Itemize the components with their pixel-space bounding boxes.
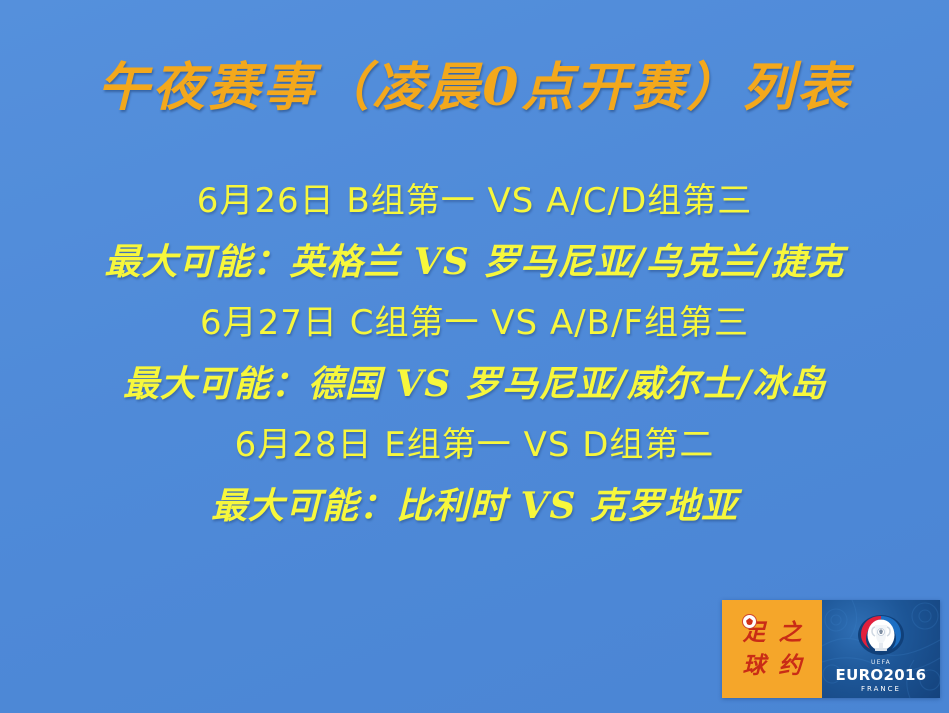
page-title: 午夜赛事（凌晨0点开赛）列表 — [0, 55, 949, 120]
logo-block: 足 之 球 约 — [722, 600, 940, 698]
brand-logo-tile: 足 之 球 约 — [722, 600, 822, 698]
list-item: 6月27日 C组第一 VS A/B/F组第三 — [0, 294, 949, 354]
euro-wordmark: UEFA EURO2016 FRANCE — [822, 660, 940, 693]
slide-canvas: 午夜赛事（凌晨0点开赛）列表 6月26日 B组第一 VS A/C/D组第三 最大… — [0, 0, 949, 713]
match-list: 6月26日 B组第一 VS A/C/D组第三 最大可能：英格兰 VS 罗马尼亚/… — [0, 172, 949, 538]
list-item: 6月26日 B组第一 VS A/C/D组第三 — [0, 172, 949, 232]
list-item: 最大可能：英格兰 VS 罗马尼亚/乌克兰/捷克 — [0, 232, 949, 294]
euro-title-text: EURO2016 — [822, 668, 940, 683]
host-country-text: FRANCE — [822, 686, 940, 693]
brand-char-2: 之 — [779, 621, 802, 644]
brand-char-4: 约 — [779, 654, 802, 677]
list-item: 最大可能：比利时 VS 克罗地亚 — [0, 476, 949, 538]
list-item: 6月28日 E组第一 VS D组第二 — [0, 416, 949, 476]
list-item: 最大可能：德国 VS 罗马尼亚/威尔士/冰岛 — [0, 354, 949, 416]
uefa-text: UEFA — [822, 660, 940, 666]
soccer-ball-icon — [742, 614, 757, 629]
brand-char-3: 球 — [743, 654, 766, 677]
euro-2016-logo-tile: UEFA EURO2016 FRANCE — [822, 600, 940, 698]
henri-delaunay-trophy-emblem-icon — [856, 610, 906, 660]
brand-character-grid: 足 之 球 约 — [722, 600, 822, 698]
